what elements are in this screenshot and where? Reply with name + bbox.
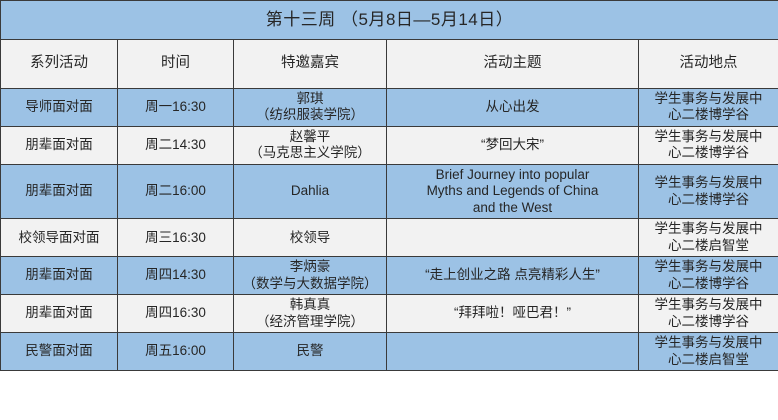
cell-activity: 朋辈面对面 [1, 257, 118, 295]
table-title-row: 第十三周 （5月8日—5月14日） [1, 1, 778, 40]
cell-venue: 学生事务与发展中 心二楼启智堂 [639, 219, 778, 257]
cell-time: 周五16:00 [118, 333, 234, 371]
cell-topic: 从心出发 [387, 89, 639, 127]
cell-guest: 校领导 [234, 219, 387, 257]
cell-guest: 赵馨平 （马克思主义学院） [234, 126, 387, 164]
venue-line-1: 学生事务与发展中 [642, 259, 775, 275]
topic-line-1: Brief Journey into popular [390, 167, 635, 183]
cell-activity: 朋辈面对面 [1, 126, 118, 164]
guest-name: 李炳豪 [237, 259, 383, 275]
cell-venue: 学生事务与发展中 心二楼博学谷 [639, 89, 778, 127]
venue-line-2: 心二楼博学谷 [642, 314, 775, 330]
cell-topic [387, 219, 639, 257]
page-title: 第十三周 （5月8日—5月14日） [1, 1, 778, 40]
cell-venue: 学生事务与发展中 心二楼博学谷 [639, 164, 778, 218]
cell-topic: “梦回大宋” [387, 126, 639, 164]
guest-name: 韩真真 [237, 297, 383, 313]
guest-affiliation: （纺织服装学院） [237, 107, 383, 123]
weekly-activity-schedule-table: 第十三周 （5月8日—5月14日） 系列活动 时间 特邀嘉宾 活动主题 活动地点… [0, 0, 778, 371]
guest-affiliation: （数学与大数据学院） [237, 276, 383, 292]
venue-line-2: 心二楼启智堂 [642, 238, 775, 254]
guest-name: 郭琪 [237, 91, 383, 107]
cell-time: 周二14:30 [118, 126, 234, 164]
venue-line-2: 心二楼博学谷 [642, 276, 775, 292]
cell-venue: 学生事务与发展中 心二楼博学谷 [639, 126, 778, 164]
cell-activity: 校领导面对面 [1, 219, 118, 257]
cell-venue: 学生事务与发展中 心二楼启智堂 [639, 333, 778, 371]
cell-guest: Dahlia [234, 164, 387, 218]
cell-topic: “走上创业之路 点亮精彩人生” [387, 257, 639, 295]
table-header-row: 系列活动 时间 特邀嘉宾 活动主题 活动地点 [1, 40, 778, 89]
guest-affiliation: （经济管理学院） [237, 314, 383, 330]
venue-line-1: 学生事务与发展中 [642, 129, 775, 145]
cell-activity: 导师面对面 [1, 89, 118, 127]
table-row: 民警面对面 周五16:00 民警 学生事务与发展中 心二楼启智堂 [1, 333, 778, 371]
venue-line-1: 学生事务与发展中 [642, 175, 775, 191]
cell-activity: 朋辈面对面 [1, 295, 118, 333]
cell-activity: 朋辈面对面 [1, 164, 118, 218]
topic-line-3: and the West [390, 200, 635, 216]
venue-line-1: 学生事务与发展中 [642, 221, 775, 237]
table-row: 朋辈面对面 周二14:30 赵馨平 （马克思主义学院） “梦回大宋” 学生事务与… [1, 126, 778, 164]
venue-line-2: 心二楼博学谷 [642, 107, 775, 123]
cell-time: 周四16:30 [118, 295, 234, 333]
cell-time: 周二16:00 [118, 164, 234, 218]
venue-line-1: 学生事务与发展中 [642, 335, 775, 351]
cell-time: 周四14:30 [118, 257, 234, 295]
cell-time: 周三16:30 [118, 219, 234, 257]
table-row: 朋辈面对面 周四16:30 韩真真 （经济管理学院） “拜拜啦！哑巴君！” 学生… [1, 295, 778, 333]
table-row: 校领导面对面 周三16:30 校领导 学生事务与发展中 心二楼启智堂 [1, 219, 778, 257]
cell-guest: 韩真真 （经济管理学院） [234, 295, 387, 333]
cell-venue: 学生事务与发展中 心二楼博学谷 [639, 257, 778, 295]
cell-guest: 李炳豪 （数学与大数据学院） [234, 257, 387, 295]
topic-line-2: Myths and Legends of China [390, 183, 635, 199]
table-row: 导师面对面 周一16:30 郭琪 （纺织服装学院） 从心出发 学生事务与发展中 … [1, 89, 778, 127]
venue-line-2: 心二楼博学谷 [642, 145, 775, 161]
column-header-guest: 特邀嘉宾 [234, 40, 387, 89]
column-header-venue: 活动地点 [639, 40, 778, 89]
cell-topic: Brief Journey into popular Myths and Leg… [387, 164, 639, 218]
venue-line-1: 学生事务与发展中 [642, 91, 775, 107]
cell-topic [387, 333, 639, 371]
cell-venue: 学生事务与发展中 心二楼博学谷 [639, 295, 778, 333]
cell-guest: 郭琪 （纺织服装学院） [234, 89, 387, 127]
venue-line-2: 心二楼启智堂 [642, 352, 775, 368]
cell-activity: 民警面对面 [1, 333, 118, 371]
table-row: 朋辈面对面 周二16:00 Dahlia Brief Journey into … [1, 164, 778, 218]
venue-line-1: 学生事务与发展中 [642, 297, 775, 313]
column-header-time: 时间 [118, 40, 234, 89]
cell-time: 周一16:30 [118, 89, 234, 127]
cell-guest: 民警 [234, 333, 387, 371]
guest-affiliation: （马克思主义学院） [237, 145, 383, 161]
cell-topic: “拜拜啦！哑巴君！” [387, 295, 639, 333]
table-row: 朋辈面对面 周四14:30 李炳豪 （数学与大数据学院） “走上创业之路 点亮精… [1, 257, 778, 295]
column-header-topic: 活动主题 [387, 40, 639, 89]
column-header-activity: 系列活动 [1, 40, 118, 89]
venue-line-2: 心二楼博学谷 [642, 192, 775, 208]
guest-name: 赵馨平 [237, 129, 383, 145]
